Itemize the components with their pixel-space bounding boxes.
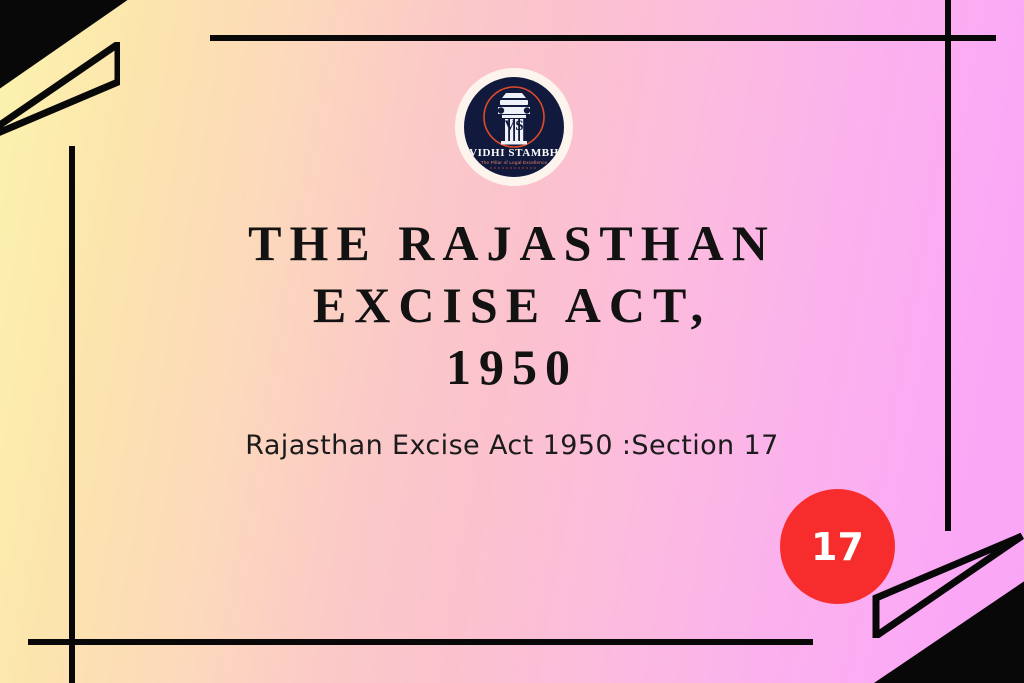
frame-line-bottom [28,639,813,645]
frame-line-top [210,35,996,41]
brand-logo: VS VIDHI STAMBH The Pillar of Legal Exce… [455,68,573,186]
status-badge-number: 17 [811,528,864,566]
page-title-line-3: 1950 [0,336,1024,398]
logo-name: VIDHI STAMBH [469,147,559,159]
triangle-solid-icon [874,580,1024,683]
logo-tagline: The Pillar of Legal Excellence [481,160,548,165]
page-title-line-2: EXCISE ACT, [0,274,1024,336]
page-title-line-1: THE RAJASTHAN [0,212,1024,274]
status-badge: 17 [780,489,895,604]
slide-canvas: VS VIDHI STAMBH The Pillar of Legal Exce… [0,0,1024,683]
svg-text:VS: VS [504,118,523,134]
page-title: THE RAJASTHAN EXCISE ACT, 1950 [0,212,1024,398]
page-subtitle: Rajasthan Excise Act 1950 :Section 17 [0,430,1024,461]
triangle-outline-icon [0,42,120,146]
logo-disc: VS VIDHI STAMBH The Pillar of Legal Exce… [464,77,564,177]
